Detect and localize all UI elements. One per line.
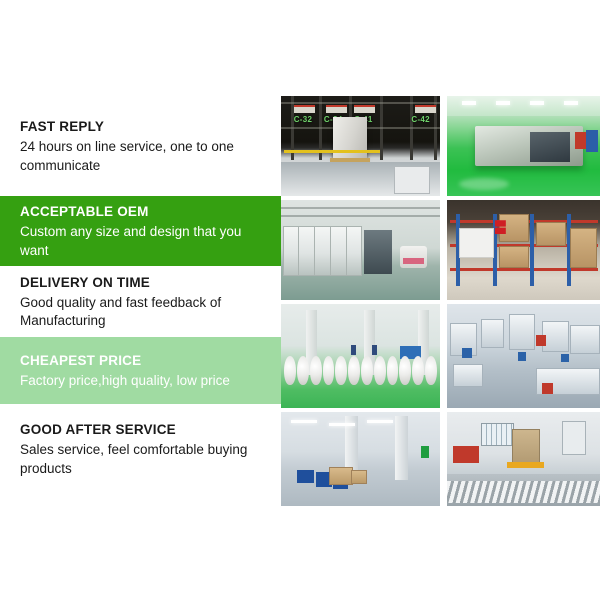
feature-description: Factory price,high quality, low price <box>20 372 272 391</box>
feature-description: Good quality and fast feedback of Manufa… <box>20 294 272 331</box>
photo-content <box>281 200 440 300</box>
feature-description: Custom any size and design that you want <box>20 223 272 260</box>
service-features-banner: FAST REPLY 24 hours on line service, one… <box>0 0 600 600</box>
production-floor-overview-photo <box>447 304 600 408</box>
finished-goods-warehouse-photo <box>281 412 440 506</box>
photo-content <box>447 412 600 506</box>
feature-description: 24 hours on line service, one to one com… <box>20 138 272 175</box>
photo-content <box>447 304 600 408</box>
warehouse-racking-photo: C-32 C-34 C-41 C-42 <box>281 96 440 196</box>
green-floor-machine-hall-photo <box>447 96 600 196</box>
rack-sign: ██ <box>495 219 505 234</box>
feature-item-acceptable-oem: ACCEPTABLE OEM Custom any size and desig… <box>0 196 281 266</box>
photo-content: ██ <box>447 200 600 300</box>
photo-content <box>281 412 440 506</box>
feature-item-delivery-on-time: DELIVERY ON TIME Good quality and fast f… <box>0 266 281 337</box>
pallet-rack-storage-photo: ██ <box>447 200 600 300</box>
feature-description: Sales service, feel comfortable buying p… <box>20 441 272 478</box>
feature-title: GOOD AFTER SERVICE <box>20 420 281 440</box>
feature-title: ACCEPTABLE OEM <box>20 202 281 222</box>
loading-dock-conveyor-photo <box>447 412 600 506</box>
feature-item-fast-reply: FAST REPLY 24 hours on line service, one… <box>0 96 281 196</box>
photo-content <box>447 96 600 196</box>
feature-title: DELIVERY ON TIME <box>20 273 281 293</box>
feature-title: CHEAPEST PRICE <box>20 351 281 371</box>
paper-roll-storage-photo <box>281 304 440 408</box>
feature-item-cheapest-price: CHEAPEST PRICE Factory price,high qualit… <box>0 337 281 404</box>
feature-list: FAST REPLY 24 hours on line service, one… <box>0 96 281 494</box>
feature-title: FAST REPLY <box>20 117 281 137</box>
feature-item-good-after-service: GOOD AFTER SERVICE Sales service, feel c… <box>0 404 281 494</box>
rack-label: C-32 <box>294 115 313 124</box>
rack-label: C-42 <box>411 115 430 124</box>
factory-photo-grid: C-32 C-34 C-41 C-42 <box>281 96 594 494</box>
photo-content <box>281 304 440 408</box>
photo-content: C-32 C-34 C-41 C-42 <box>281 96 440 196</box>
printing-line-photo <box>281 200 440 300</box>
